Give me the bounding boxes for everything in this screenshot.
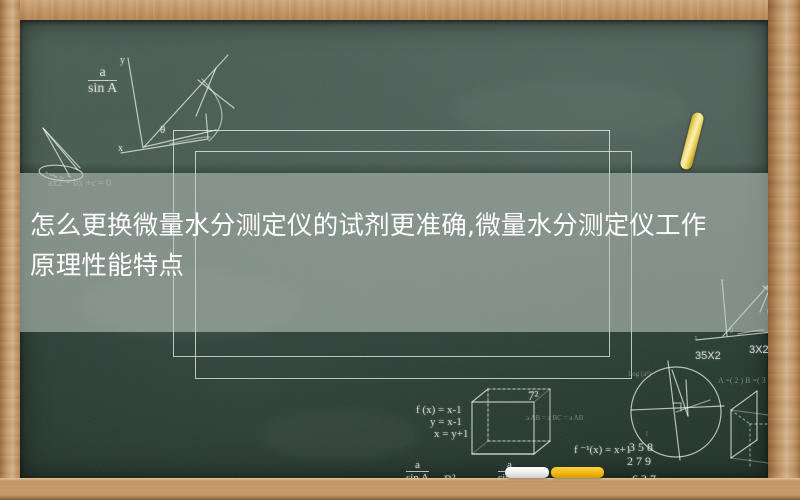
frame-left-rail [0, 0, 20, 500]
chalk-note-addition-augend: 3 5 8 [629, 440, 653, 454]
yellow-chalk [551, 467, 604, 478]
white-chalk [505, 467, 549, 478]
chalk-note-addition-addend: 2 7 9 [627, 454, 651, 468]
chalk-tray-lip [0, 478, 800, 482]
chalk-tray-shadow [0, 495, 800, 500]
chalk-angle-label-theta: θ [160, 124, 165, 137]
chalk-note-addition-carry: 1 [645, 430, 649, 438]
chalk-note-fraction-a-sinA-top: a sin A [88, 66, 117, 97]
frame-top-rail [0, 0, 800, 20]
chalk-axis-label-y: y [120, 55, 125, 67]
chalkboard-poster: a sin A ax2 + bx +c = 0 y x θ y x θ f (x… [0, 0, 800, 500]
chalk-note-triangle-ratio: a AB = a BC = a AB [526, 414, 583, 422]
chalk-note-matrix-row: A =( 2 ) B =( 3 ) I =( 3 ) [718, 376, 768, 385]
fraction-numerator: a [406, 460, 429, 471]
chalk-note-fraction-a-sinA-left: a sin A [406, 460, 429, 478]
fraction-numerator: a [88, 66, 117, 80]
page-title-line-1: 怎么更换微量水分测定仪的试剂更准确,微量水分测定仪工作 [30, 206, 760, 246]
page-title-line-2: 原理性能特点 [30, 246, 760, 286]
chalk-note-multiply-3x2: 3X2 [749, 344, 768, 357]
chalk-note-inverse-function: f ⁻¹(x) = x+1 [574, 444, 631, 457]
chalk-note-seven-squared: 7² [528, 388, 538, 403]
chalk-axis-label-x: x [118, 143, 123, 155]
chalk-axis-label-x: x [694, 333, 698, 342]
chalk-note-function-x: x = y+1 [434, 428, 468, 441]
fraction-denominator: sin A [88, 80, 117, 97]
chalk-smear [260, 410, 420, 460]
page-title: 怎么更换微量水分测定仪的试剂更准确,微量水分测定仪工作 原理性能特点 [30, 206, 760, 286]
chalkboard-surface: a sin A ax2 + bx +c = 0 y x θ y x θ f (x… [20, 20, 768, 478]
frame-right-rail [768, 0, 800, 500]
fraction-denominator: sin A [406, 471, 429, 478]
chalk-note-multiply-35x2: 35X2 [695, 350, 721, 363]
